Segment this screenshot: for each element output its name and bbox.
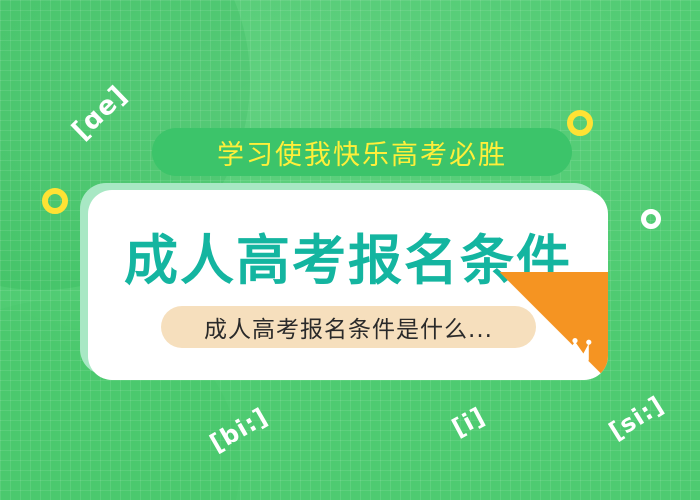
ring-white-right [641,209,661,229]
corner-badge [500,272,608,380]
subtitle-text: 成人高考报名条件是什么... [204,310,493,344]
slogan-banner: 学习使我快乐高考必胜 [152,128,572,176]
crown-icon [558,338,592,364]
ring-yellow-left [42,188,68,214]
main-title-card: 成人高考报名条件 成人高考报名条件是什么... [88,190,608,380]
slogan-banner-text: 学习使我快乐高考必胜 [217,133,507,172]
poster-canvas: [ɑe] [bi:] [i] [si:] 学习使我快乐高考必胜 成人高考报名条件… [0,0,700,500]
subtitle-pill: 成人高考报名条件是什么... [161,306,536,348]
ring-yellow-top [567,110,593,136]
